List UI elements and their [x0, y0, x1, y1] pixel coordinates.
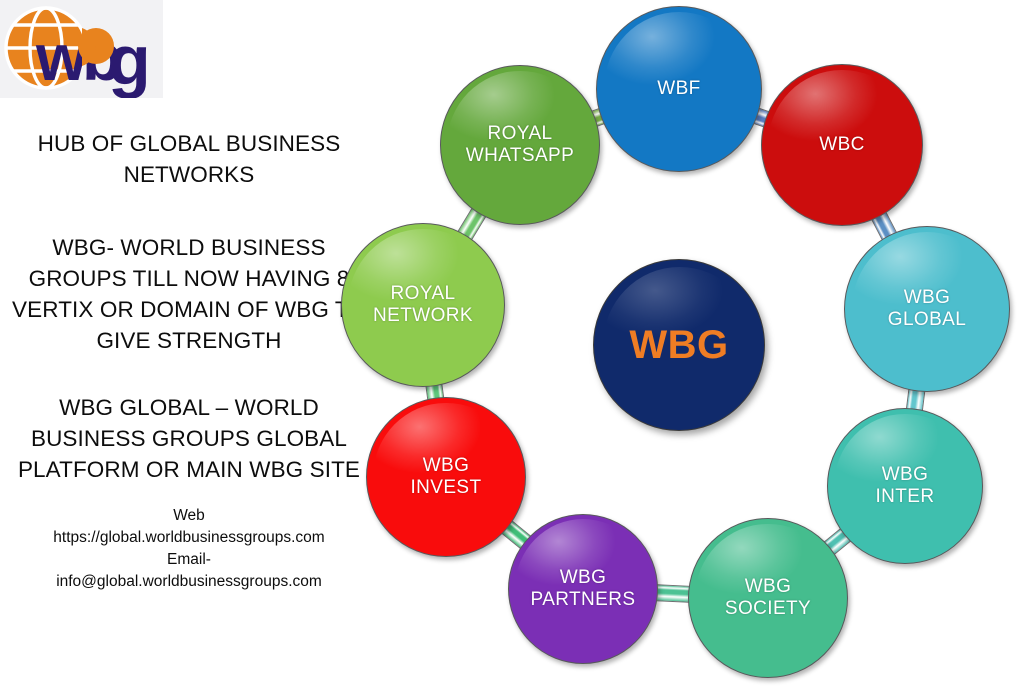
node-wbc[interactable]: WBC	[761, 64, 923, 226]
node-label-wbg-invest: WBGINVEST	[410, 455, 481, 499]
node-wbg-society[interactable]: WBGSOCIETY	[688, 518, 848, 678]
wbg-ring-diagram: WBFWBCWBGGLOBALWBGINTERWBGSOCIETYWBGPART…	[330, 0, 1024, 700]
node-label-wbg-global: WBGGLOBAL	[888, 287, 966, 331]
email-label: Email-	[4, 549, 374, 571]
node-wbg-invest[interactable]: WBGINVEST	[366, 397, 526, 557]
contact-block: Web https://global.worldbusinessgroups.c…	[0, 505, 378, 593]
left-text-column: HUB OF GLOBAL BUSINESS NETWORKS WBG- WOR…	[0, 128, 378, 593]
node-label-wbg-inter: WBGINTER	[876, 464, 935, 508]
node-label-royal-network: ROYALNETWORK	[373, 283, 473, 327]
node-label-royal-whatsapp: ROYALWHATSAPP	[466, 123, 574, 167]
wbg-logo: w b g	[0, 0, 163, 98]
node-wbg-inter[interactable]: WBGINTER	[827, 408, 983, 564]
tagline-hub: HUB OF GLOBAL BUSINESS NETWORKS	[0, 128, 378, 190]
node-wbf[interactable]: WBF	[596, 6, 762, 172]
svg-text:g: g	[108, 21, 151, 98]
logo-wordmark: w	[35, 20, 88, 94]
description-wbg-vertices: WBG- WORLD BUSINESS GROUPS TILL NOW HAVI…	[0, 232, 378, 356]
node-royal-whatsapp[interactable]: ROYALWHATSAPP	[440, 65, 600, 225]
center-node-label: WBG	[629, 323, 728, 368]
node-label-wbc: WBC	[819, 134, 865, 156]
email-address[interactable]: info@global.worldbusinessgroups.com	[4, 571, 374, 593]
node-royal-network[interactable]: ROYALNETWORK	[341, 223, 505, 387]
web-url[interactable]: https://global.worldbusinessgroups.com	[4, 527, 374, 549]
center-node-wbg[interactable]: WBG	[593, 259, 765, 431]
web-label: Web	[4, 505, 374, 527]
node-wbg-global[interactable]: WBGGLOBAL	[844, 226, 1010, 392]
node-label-wbg-partners: WBGPARTNERS	[531, 567, 636, 611]
slide-canvas: w b g HUB OF GLOBAL BUSINESS NETWORKS WB…	[0, 0, 1024, 700]
globe-icon: w b g	[0, 0, 163, 98]
node-label-wbf: WBF	[657, 78, 700, 100]
description-wbg-global: WBG GLOBAL – WORLD BUSINESS GROUPS GLOBA…	[0, 392, 378, 485]
node-label-wbg-society: WBGSOCIETY	[725, 576, 811, 620]
node-wbg-partners[interactable]: WBGPARTNERS	[508, 514, 658, 664]
